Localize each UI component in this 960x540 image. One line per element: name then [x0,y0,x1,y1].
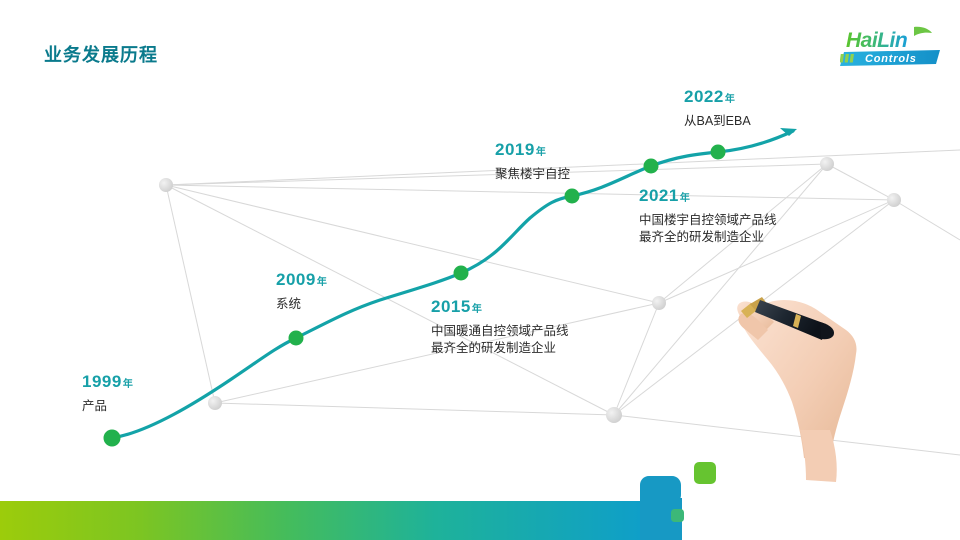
milestone-year-suffix-2015: 年 [472,300,482,315]
milestone-dot-1999[interactable] [104,430,121,447]
milestone-year-suffix-2021: 年 [680,189,690,204]
milestone-year-suffix-2019: 年 [536,143,546,158]
milestone-desc-2015: 中国暖通自控领域产品线 最齐全的研发制造企业 [431,323,569,357]
milestone-dot-2022[interactable] [711,145,726,160]
milestone-label-2022: 2022年 从BA到EBA [684,87,751,130]
milestone-desc-line: 从BA到EBA [684,113,751,130]
milestone-dot-2021[interactable] [644,159,659,174]
milestone-desc-2019: 聚焦楼宇自控 [495,166,570,183]
milestone-year-2022: 2022 [684,87,724,107]
timeline-graphic [0,0,960,540]
milestone-desc-line: 中国楼宇自控领域产品线 [639,212,777,229]
hand-holding-pen-illustration [737,297,856,482]
milestone-desc-line: 中国暖通自控领域产品线 [431,323,569,340]
milestone-desc-line: 产品 [82,398,133,415]
milestone-desc-line: 聚焦楼宇自控 [495,166,570,183]
milestone-year-suffix-2009: 年 [317,273,327,288]
milestone-dot-2009[interactable] [289,331,304,346]
milestone-year-2009: 2009 [276,270,316,290]
milestone-desc-2009: 系统 [276,296,327,313]
milestone-label-2009: 2009年 系统 [276,270,327,313]
milestone-year-2019: 2019 [495,140,535,160]
milestone-label-2019: 2019年 聚焦楼宇自控 [495,140,570,183]
milestone-desc-2022: 从BA到EBA [684,113,751,130]
milestone-year-2015: 2015 [431,297,471,317]
milestone-desc-line: 最齐全的研发制造企业 [639,229,777,246]
milestone-desc-line: 最齐全的研发制造企业 [431,340,569,357]
milestone-desc-line: 系统 [276,296,327,313]
milestone-label-2015: 2015年 中国暖通自控领域产品线 最齐全的研发制造企业 [431,297,569,357]
growth-curve [112,131,793,438]
milestone-dot-2019[interactable] [565,189,580,204]
slide-canvas: 业务发展历程 HaiLin [0,0,960,540]
milestone-year-suffix-1999: 年 [123,375,133,390]
milestone-desc-2021: 中国楼宇自控领域产品线 最齐全的研发制造企业 [639,212,777,246]
milestone-year-1999: 1999 [82,372,122,392]
milestone-year-suffix-2022: 年 [725,90,735,105]
milestone-dot-2015[interactable] [454,266,469,281]
milestone-label-1999: 1999年 产品 [82,372,133,415]
milestone-year-2021: 2021 [639,186,679,206]
milestone-label-2021: 2021年 中国楼宇自控领域产品线 最齐全的研发制造企业 [639,186,777,246]
milestone-desc-1999: 产品 [82,398,133,415]
